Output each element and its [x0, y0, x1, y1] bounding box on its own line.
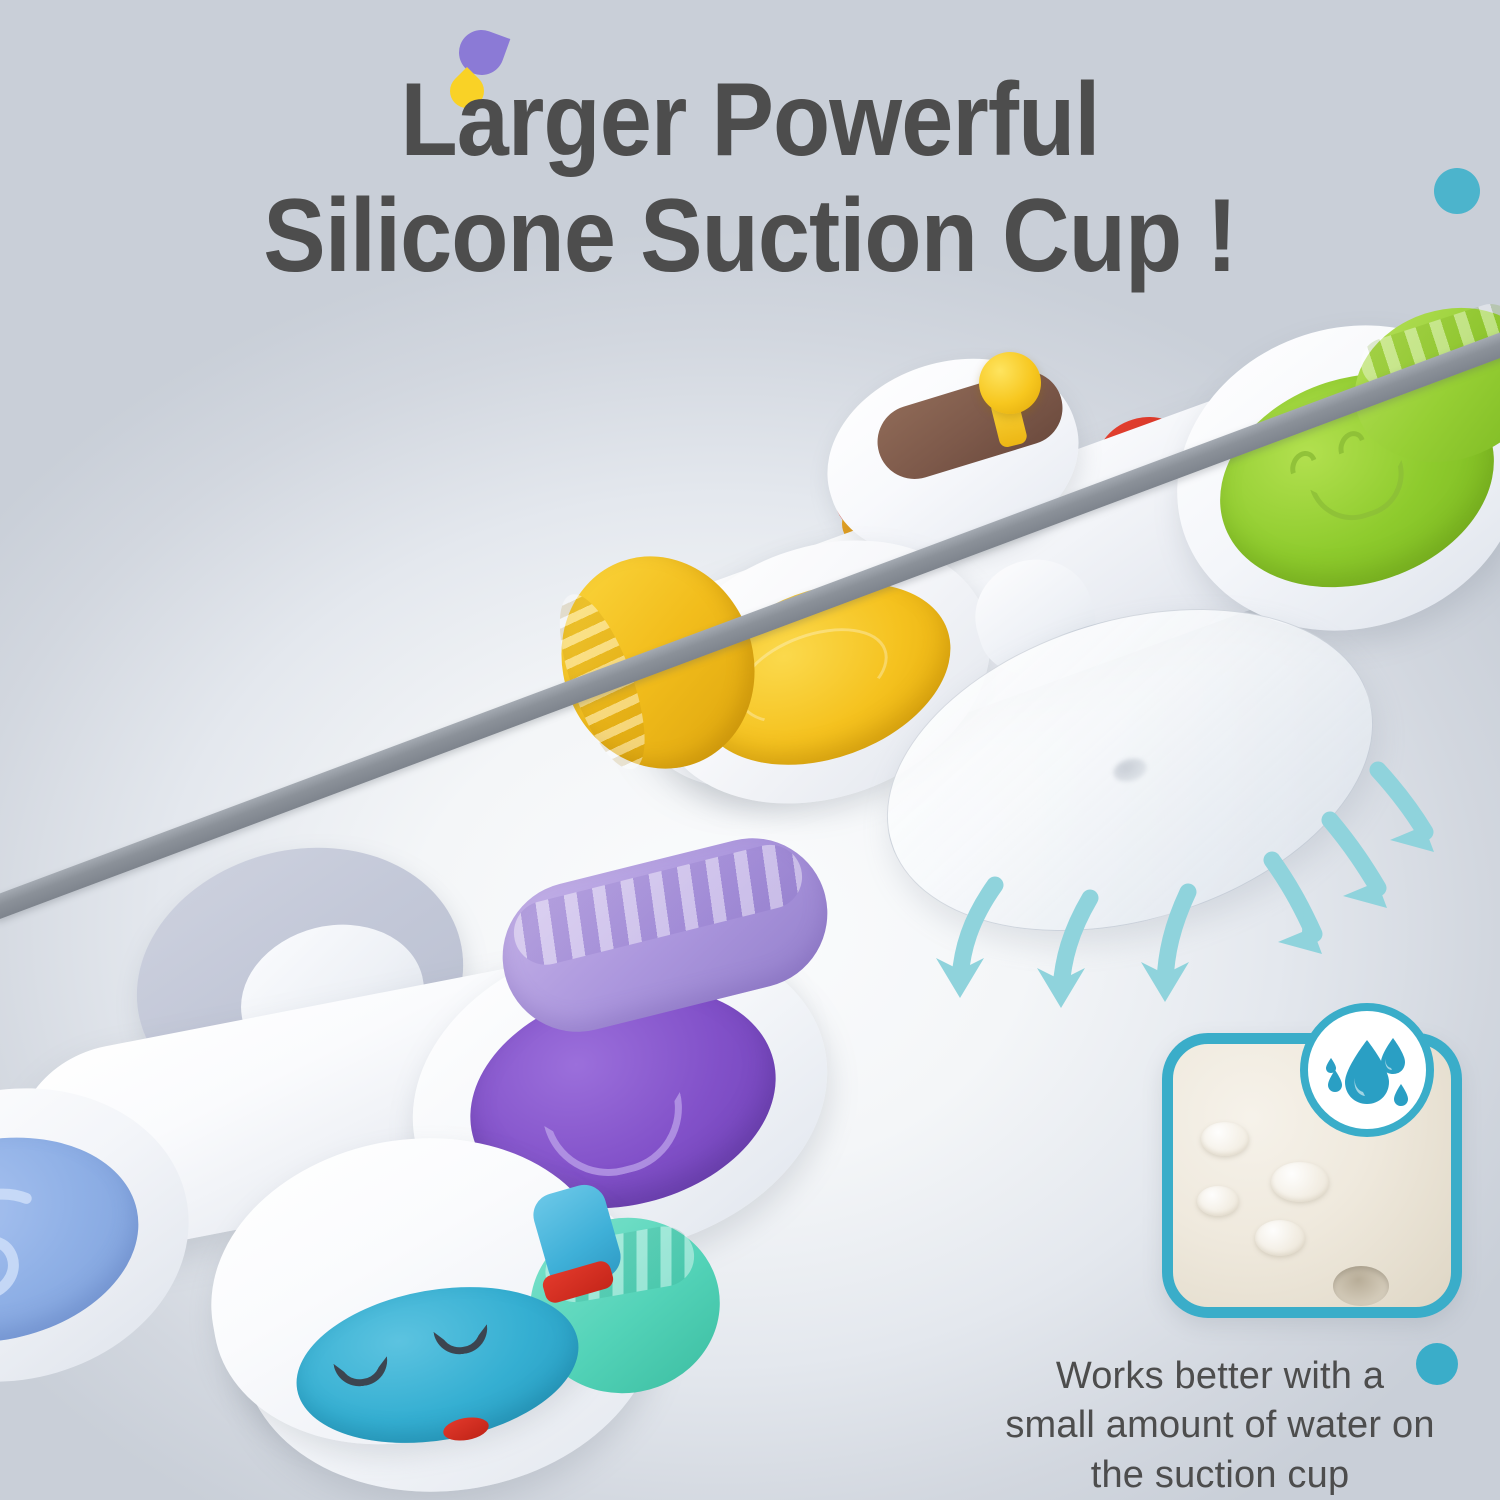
green-eye-right-icon — [1334, 427, 1370, 466]
green-eye-left-icon — [1286, 447, 1322, 486]
water-bead — [1201, 1122, 1249, 1156]
product-image-canvas: Larger Powerful Silicone Suction Cup ! W… — [0, 0, 1500, 1500]
suction-cup-vent-hole — [1333, 1266, 1389, 1306]
water-bead — [1197, 1186, 1239, 1216]
airflow-arrows — [900, 620, 1460, 1020]
water-bead — [1271, 1162, 1329, 1202]
water-drops-icon — [1300, 1003, 1434, 1137]
page-title: Larger Powerful Silicone Suction Cup ! — [75, 62, 1425, 295]
yellow-knob — [979, 352, 1041, 414]
caption-text: Works better with a small amount of wate… — [960, 1352, 1480, 1500]
airflow-arrows-svg — [900, 620, 1460, 1020]
teal-dot-title-accent — [1434, 168, 1480, 214]
water-bead — [1255, 1220, 1305, 1256]
toy-bottom-purple-blue — [0, 840, 900, 1500]
